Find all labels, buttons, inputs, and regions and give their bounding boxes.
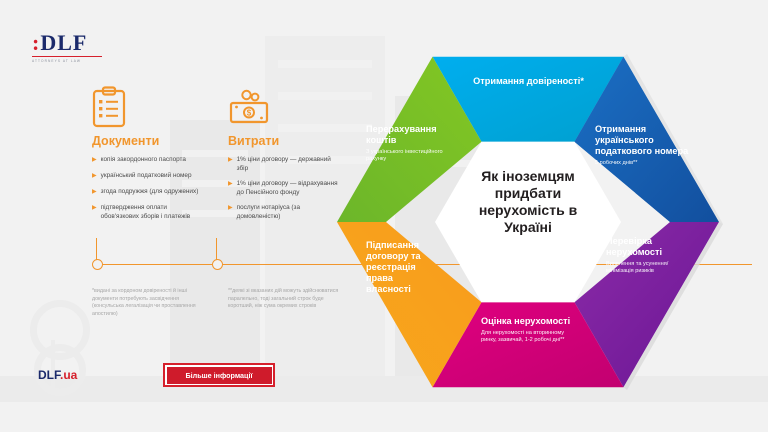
list-item-text: підтвердження оплати обов'язкових зборів…: [101, 203, 204, 221]
bullet-icon: ▶: [228, 203, 233, 221]
center-title: Як іноземцям придбати нерухомість в Укра…: [453, 168, 603, 236]
segment-top-left-label: Перерахування коштів З українського інве…: [366, 124, 458, 164]
clipboard-icon: [92, 86, 204, 130]
segment-top-left-title: Перерахування коштів: [366, 124, 458, 146]
bullet-icon: ▶: [92, 187, 97, 197]
footer-logo-name: DLF: [38, 368, 60, 382]
list-item: ▶згода подружжя (для одружених): [92, 187, 204, 197]
list-item: ▶підтвердження оплати обов'язкових зборі…: [92, 203, 204, 221]
footnotes: *видані за кордоном довіреності й інші д…: [92, 288, 342, 318]
segment-bottom-right-subtitle: Виявлення та усунення/ мінімізація ризик…: [606, 261, 694, 276]
footer-logo: DLF.ua: [38, 368, 77, 382]
segment-top-right-subtitle: 5 робочих днів**: [595, 160, 693, 167]
segment-bottom-left-title: Підписання договору та реєстрація права …: [366, 240, 440, 295]
segment-top-right-label: Отримання українського податкового номер…: [595, 124, 693, 167]
bullet-icon: ▶: [228, 179, 233, 197]
connector-node: [212, 259, 223, 270]
logo-tagline: attorneys at law: [32, 59, 102, 63]
bullet-icon: ▶: [92, 171, 97, 181]
documents-list: ▶копія закордонного паспорта ▶українськи…: [92, 155, 204, 221]
bullet-icon: ▶: [92, 203, 97, 221]
footnote-1: *видані за кордоном довіреності й інші д…: [92, 288, 204, 318]
logo-wordmark: :DLF: [32, 32, 102, 54]
list-item: ▶копія закордонного паспорта: [92, 155, 204, 165]
segment-top-label: Отримання довіреності*: [451, 76, 606, 87]
segment-bottom-label: Оцінка нерухомості Для нерухомості на вт…: [481, 316, 576, 345]
segment-top-left-subtitle: З українського інвестиційного рахунку: [366, 149, 458, 164]
column-documents: Документи ▶копія закордонного паспорта ▶…: [92, 86, 204, 227]
more-info-button-label: Більше інформації: [167, 367, 272, 384]
hexagon-diagram: Як іноземцям придбати нерухомість в Укра…: [318, 28, 768, 406]
segment-top-title: Отримання довіреності*: [451, 76, 606, 87]
segment-bottom-subtitle: Для нерухомості на вторинному ринку, заз…: [481, 330, 576, 345]
bullet-icon: ▶: [92, 155, 97, 165]
infographic-page: :DLF attorneys at law Документи: [0, 0, 768, 432]
segment-bottom-title: Оцінка нерухомості: [481, 316, 576, 327]
segment-bottom-right-title: Перевірка нерухомості: [606, 236, 694, 258]
list-item-text: згода подружжя (для одружених): [101, 187, 199, 197]
dlf-logo: :DLF attorneys at law: [32, 32, 102, 63]
column-title: Документи: [92, 134, 204, 148]
segment-bottom-left-label: Підписання договору та реєстрація права …: [366, 240, 440, 295]
logo-rule: [32, 56, 102, 57]
connector-node: [92, 259, 103, 270]
segment-bottom-right-label: Перевірка нерухомості Виявлення та усуне…: [606, 236, 694, 276]
more-info-button[interactable]: Більше інформації: [163, 363, 275, 387]
segment-top-right-title: Отримання українського податкового номер…: [595, 124, 693, 157]
bullet-icon: ▶: [228, 155, 233, 173]
list-item: ▶український податковий номер: [92, 171, 204, 181]
list-item-text: український податковий номер: [101, 171, 192, 181]
footer-logo-tld: .ua: [60, 368, 77, 382]
svg-text:$: $: [247, 109, 252, 118]
list-item-text: копія закордонного паспорта: [101, 155, 186, 165]
info-columns: Документи ▶копія закордонного паспорта ▶…: [92, 86, 342, 227]
